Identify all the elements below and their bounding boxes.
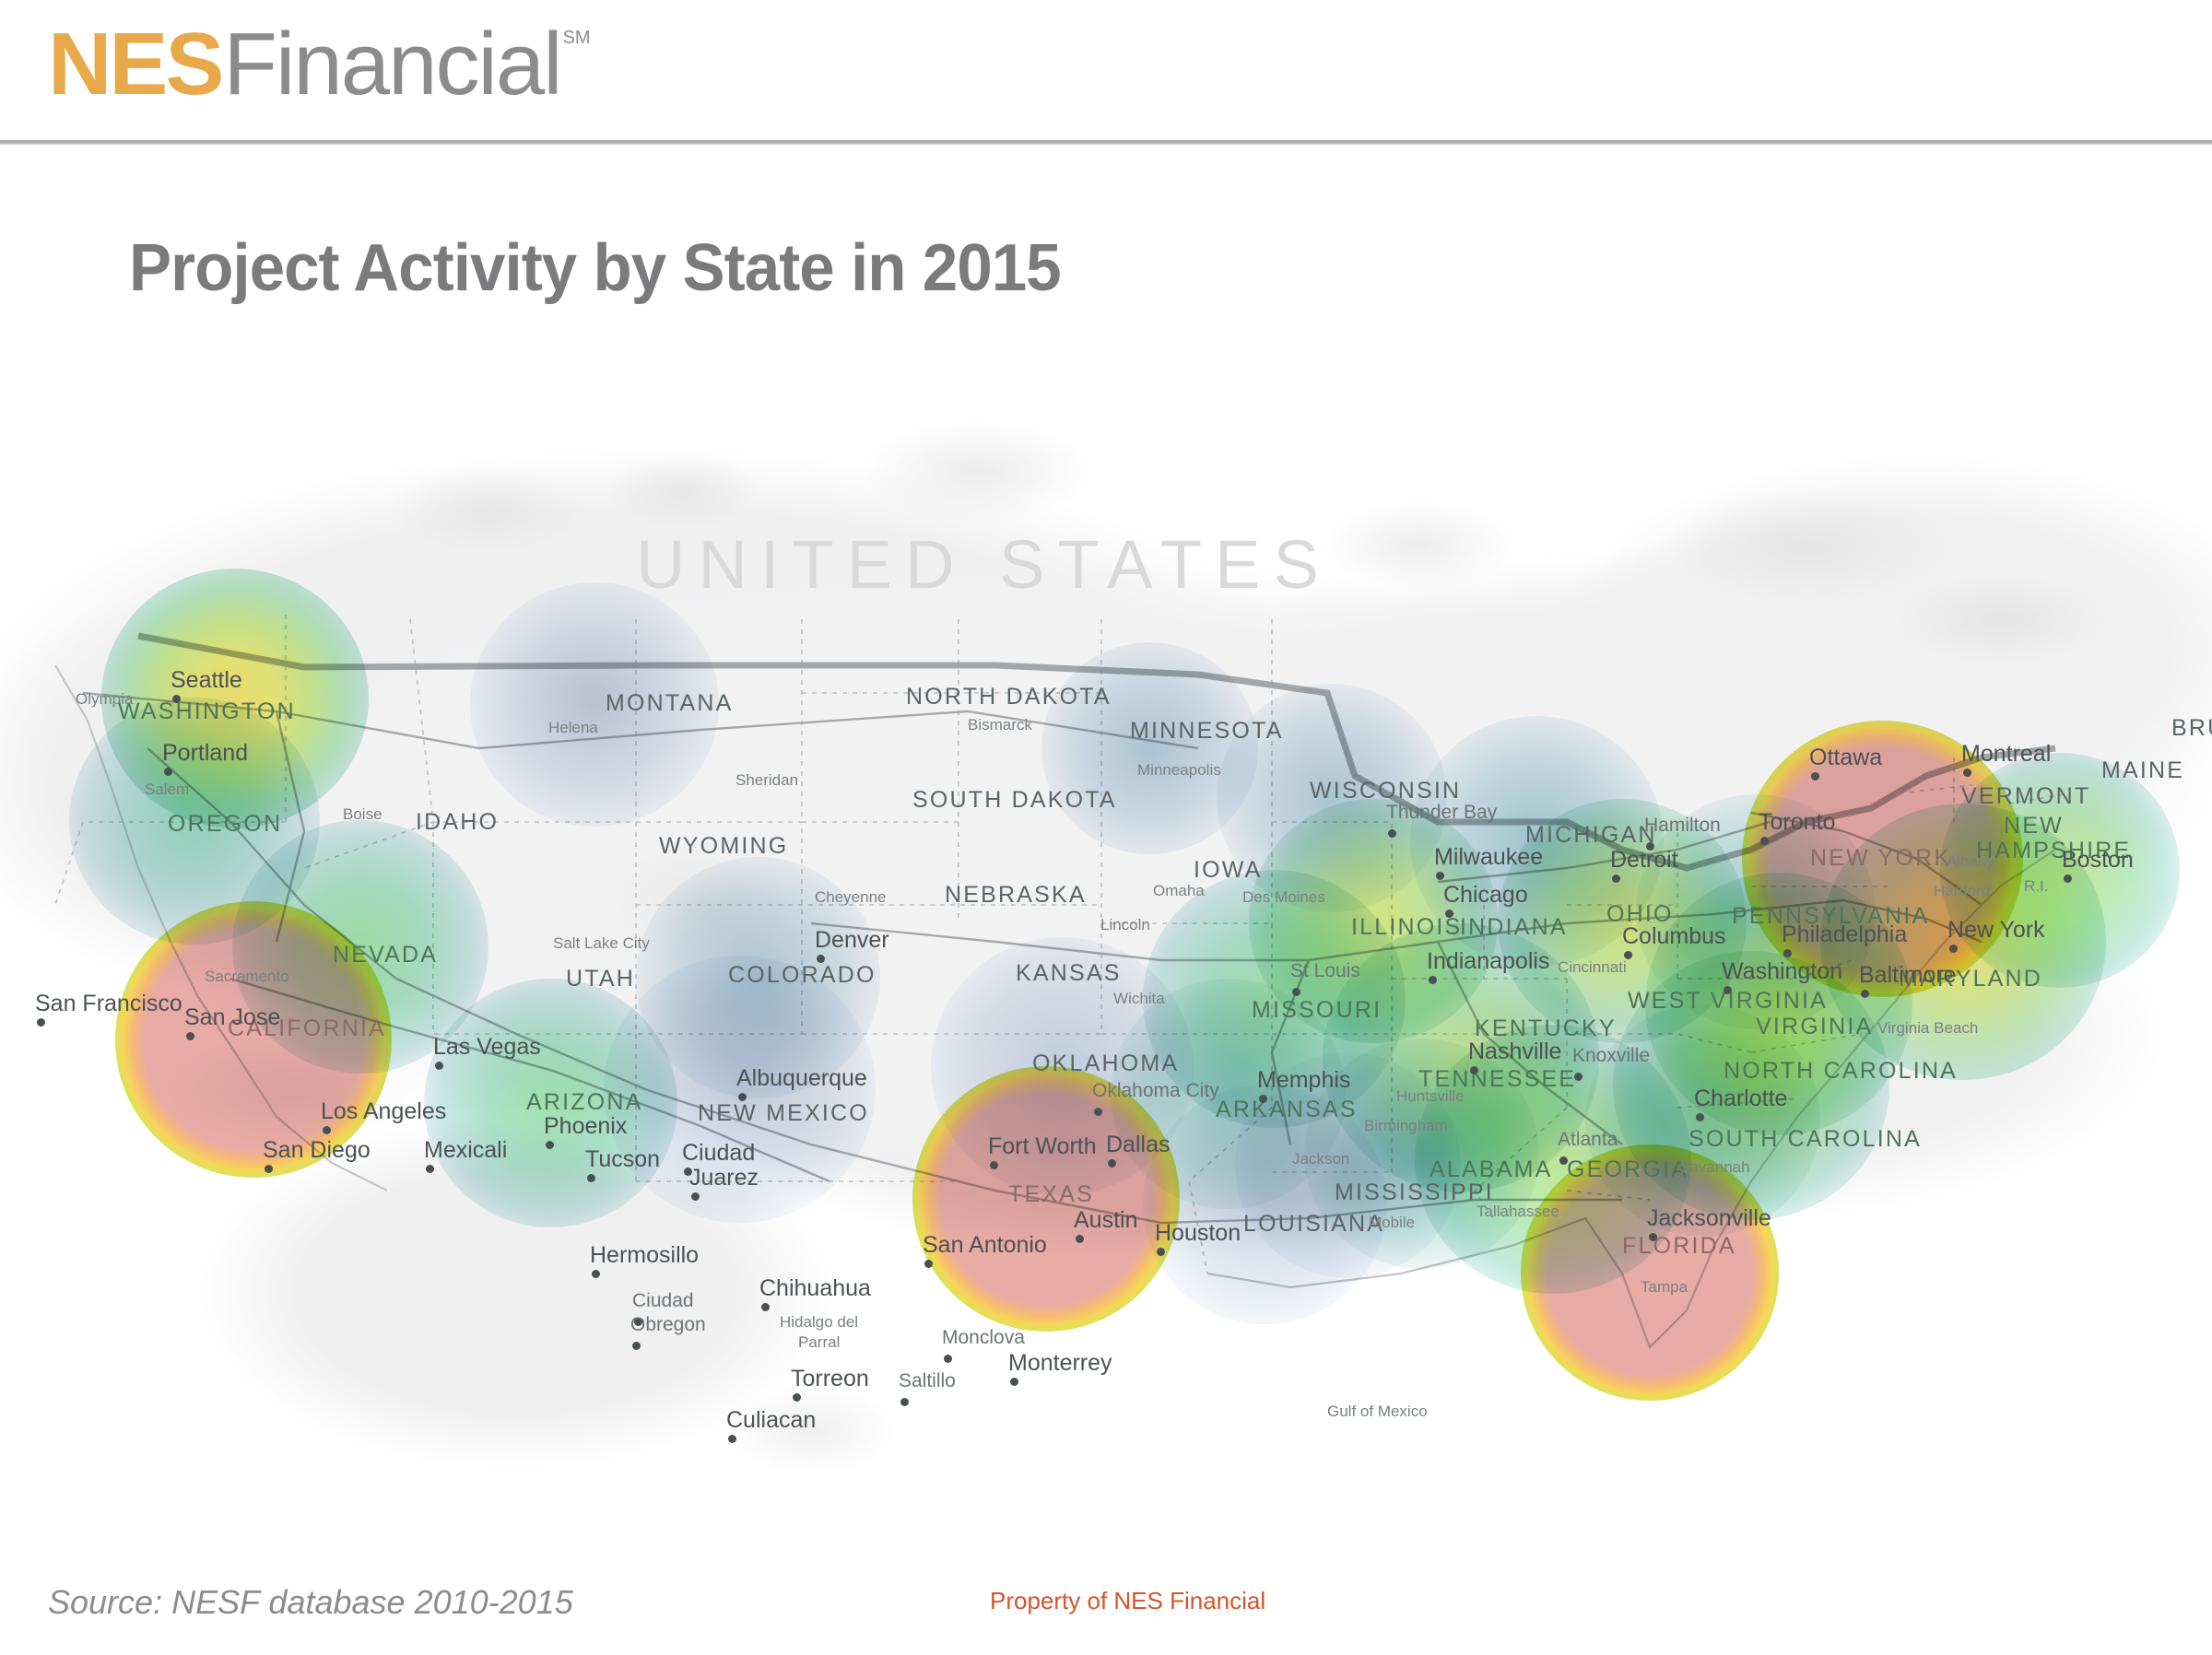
- property-notice: Property of NES Financial: [990, 1587, 1265, 1615]
- city-marker-dot: [1861, 990, 1869, 998]
- city-marker-dot: [1696, 1113, 1704, 1121]
- page-header: NES Financial SM: [0, 0, 2212, 146]
- city-marker-dot: [1783, 949, 1792, 957]
- city-marker-dot: [1010, 1378, 1018, 1386]
- city-marker-dot: [684, 1168, 692, 1176]
- city-marker-dot: [691, 1192, 700, 1201]
- city-marker-dot: [738, 1093, 747, 1101]
- city-marker-dot: [37, 1018, 45, 1027]
- city-marker-dot: [2064, 874, 2072, 883]
- city-marker-dot: [728, 1435, 736, 1443]
- logo-secondary-text: Financial: [223, 20, 560, 109]
- city-marker-dot: [900, 1398, 909, 1406]
- city-marker-dot: [1949, 945, 1958, 953]
- city-marker-dot: [546, 1141, 554, 1149]
- city-marker-dot: [990, 1161, 998, 1169]
- city-marker-dot: [1436, 872, 1444, 880]
- city-marker-dot: [632, 1342, 641, 1350]
- city-marker-dot: [944, 1355, 952, 1363]
- city-marker-dot: [1724, 986, 1732, 994]
- logo-primary-text: NES: [48, 20, 221, 109]
- city-marker-dot: [1388, 829, 1396, 838]
- city-marker-dot: [1108, 1159, 1116, 1168]
- city-marker-dot: [1624, 951, 1632, 959]
- city-marker-dot: [793, 1393, 801, 1402]
- city-marker-dot: [634, 1318, 642, 1326]
- city-marker-dot: [1612, 874, 1620, 883]
- city-marker-dot: [1649, 1233, 1657, 1241]
- city-marker-dot: [1574, 1073, 1583, 1081]
- city-marker-dot: [1445, 910, 1453, 918]
- city-marker-dot: [172, 695, 181, 703]
- map-watermark-text: UNITED STATES: [636, 525, 1332, 604]
- city-marker-dot: [592, 1270, 600, 1278]
- city-marker-dot: [1094, 1108, 1102, 1116]
- slide-root: NES Financial SM Project Activity by Sta…: [0, 0, 2212, 1655]
- heatmap-map[interactable]: UNITED STATES: [0, 389, 2212, 1532]
- city-marker-dot: [1470, 1066, 1478, 1074]
- city-marker-dot: [587, 1174, 595, 1182]
- city-marker-dot: [186, 1032, 194, 1040]
- header-divider: [0, 140, 2212, 145]
- city-marker-dot: [1646, 842, 1654, 851]
- city-marker-dot: [1760, 837, 1769, 845]
- city-marker-dot: [426, 1165, 434, 1173]
- source-note: Source: NESF database 2010-2015: [48, 1583, 573, 1622]
- city-marker-dot: [924, 1260, 933, 1268]
- city-marker-dot: [761, 1303, 770, 1311]
- city-marker-dot: [164, 768, 172, 776]
- city-marker-dot: [1292, 988, 1300, 996]
- city-marker-dot: [1559, 1156, 1568, 1165]
- city-marker-dot: [1157, 1248, 1165, 1256]
- city-marker-dot: [435, 1062, 443, 1070]
- page-title: Project Activity by State in 2015: [129, 230, 1061, 306]
- city-marker-dot: [817, 955, 825, 963]
- nes-financial-logo: NES Financial SM: [48, 20, 591, 109]
- city-marker-dot: [1259, 1095, 1267, 1103]
- city-marker-dot: [1429, 976, 1437, 984]
- city-marker-dot: [323, 1126, 331, 1134]
- city-marker-dot: [265, 1165, 273, 1173]
- city-marker-dot: [1811, 772, 1819, 781]
- city-marker-dot: [1963, 769, 1971, 777]
- city-marker-dot: [1076, 1235, 1084, 1243]
- service-mark-icon: SM: [563, 28, 591, 49]
